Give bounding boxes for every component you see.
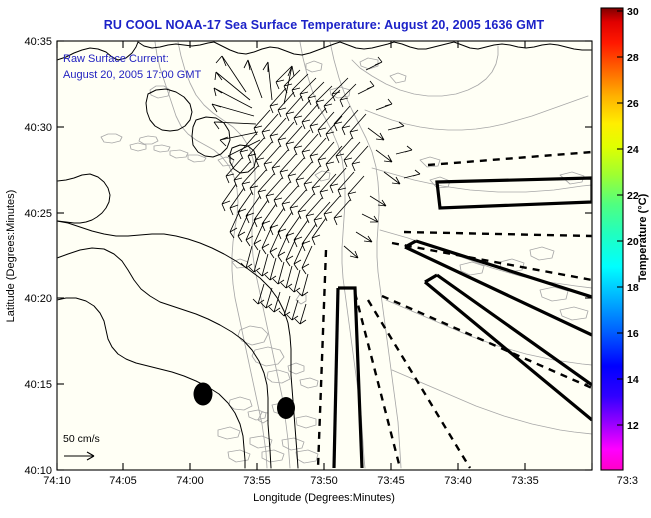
scale-legend-label: 50 cm/s [63, 433, 100, 445]
y-tick-label: 40:30 [24, 122, 52, 134]
x-tick-label: 73:35 [511, 475, 539, 487]
annotation-line-2: August 20, 2005 17:00 GMT [63, 69, 201, 81]
colorbar-tick-label: 28 [627, 52, 639, 64]
x-tick-label: 73:45 [377, 475, 405, 487]
x-tick-label: 74:05 [109, 475, 137, 487]
colorbar-tick-label: 26 [627, 98, 639, 110]
colorbar-tick-label: 18 [627, 282, 639, 294]
sst-map-figure: RU COOL NOAA-17 Sea Surface Temperature:… [0, 0, 651, 518]
colorbar-gradient [601, 8, 623, 470]
colorbar-title: Temperature (°C) [637, 193, 649, 282]
y-tick-label: 40:25 [24, 208, 52, 220]
y-tick-label: 40:15 [24, 379, 52, 391]
x-tick-label: 73:3 [617, 475, 638, 487]
x-axis-label: Longitude (Degrees:Minutes) [253, 492, 395, 504]
colorbar-tick-label: 24 [627, 144, 639, 156]
x-tick-label: 73:50 [310, 475, 338, 487]
station-marker-east[interactable] [277, 397, 295, 419]
y-tick-label: 40:20 [24, 293, 52, 305]
x-tick-label: 73:40 [444, 475, 472, 487]
colorbar-tick-label: 16 [627, 328, 639, 340]
x-tick-label: 74:00 [176, 475, 204, 487]
y-tick-label: 40:10 [24, 465, 52, 477]
colorbar-tick-label: 12 [627, 420, 639, 432]
y-axis-label: Latitude (Degrees:Minutes) [5, 190, 17, 323]
colorbar-tick-label: 30 [627, 6, 639, 18]
y-tick-label: 40:35 [24, 36, 52, 48]
x-tick-label: 73:55 [243, 475, 271, 487]
page-title: RU COOL NOAA-17 Sea Surface Temperature:… [104, 18, 545, 32]
figure-root: RU COOL NOAA-17 Sea Surface Temperature:… [0, 0, 651, 518]
annotation-line-1: Raw Surface Current: [63, 53, 169, 65]
station-marker-west[interactable] [194, 383, 213, 406]
colorbar-tick-label: 14 [627, 374, 639, 386]
